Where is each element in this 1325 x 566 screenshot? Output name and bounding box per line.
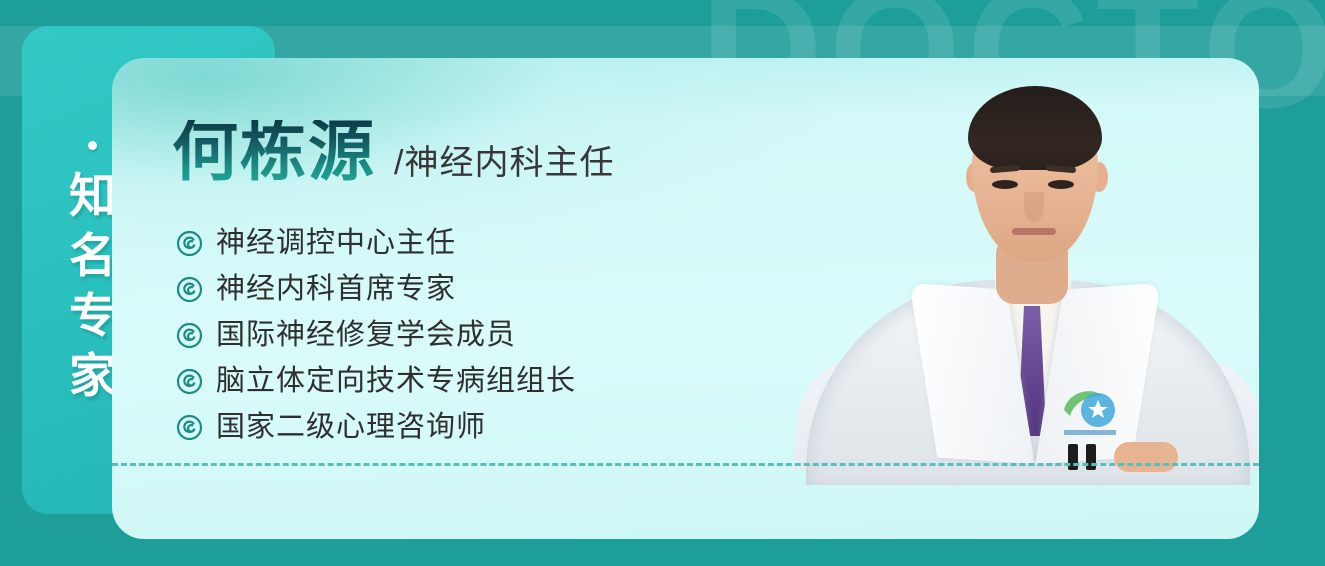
dashed-divider (112, 463, 1259, 466)
portrait-eye-right (1048, 180, 1074, 189)
credential-label: 神经内科首席专家 (216, 275, 456, 304)
list-item: 国家二级心理咨询师 (176, 404, 576, 450)
dot-marker-icon (88, 141, 97, 150)
credential-label: 国际神经修复学会成员 (216, 321, 516, 350)
doctor-info-card: 何栋源 /神经内科主任 神经调控中心主任 (112, 58, 1259, 539)
doctor-headline: 何栋源 /神经内科主任 (172, 120, 614, 186)
credential-label: 脑立体定向技术专病组组长 (216, 367, 576, 396)
target-spiral-icon (176, 230, 203, 257)
list-item: 神经内科首席专家 (176, 266, 576, 312)
target-spiral-icon (176, 322, 203, 349)
doctor-profile-banner: DOCTOR 知 名 专 家 (0, 0, 1325, 566)
target-spiral-icon (176, 414, 203, 441)
credential-list: 神经调控中心主任 神经内科首席专家 国际神经 (176, 220, 576, 450)
portrait-pen-left (1068, 444, 1078, 470)
list-item: 脑立体定向技术专病组组长 (176, 358, 576, 404)
portrait-eye-left (992, 180, 1018, 189)
list-item: 神经调控中心主任 (176, 220, 576, 266)
target-spiral-icon (176, 276, 203, 303)
portrait-pen-right (1086, 444, 1096, 470)
portrait-hand (1114, 442, 1178, 472)
target-spiral-icon (176, 368, 203, 395)
doctor-name: 何栋源 (172, 120, 376, 186)
credential-label: 国家二级心理咨询师 (216, 413, 486, 442)
credential-label: 神经调控中心主任 (216, 229, 456, 258)
list-item: 国际神经修复学会成员 (176, 312, 576, 358)
portrait-hair (968, 86, 1102, 170)
doctor-portrait (798, 58, 1258, 468)
portrait-nose (1024, 192, 1044, 222)
portrait-mouth (1012, 228, 1056, 235)
doctor-role: /神经内科主任 (394, 135, 614, 184)
hospital-logo-badge-icon (1058, 384, 1122, 442)
